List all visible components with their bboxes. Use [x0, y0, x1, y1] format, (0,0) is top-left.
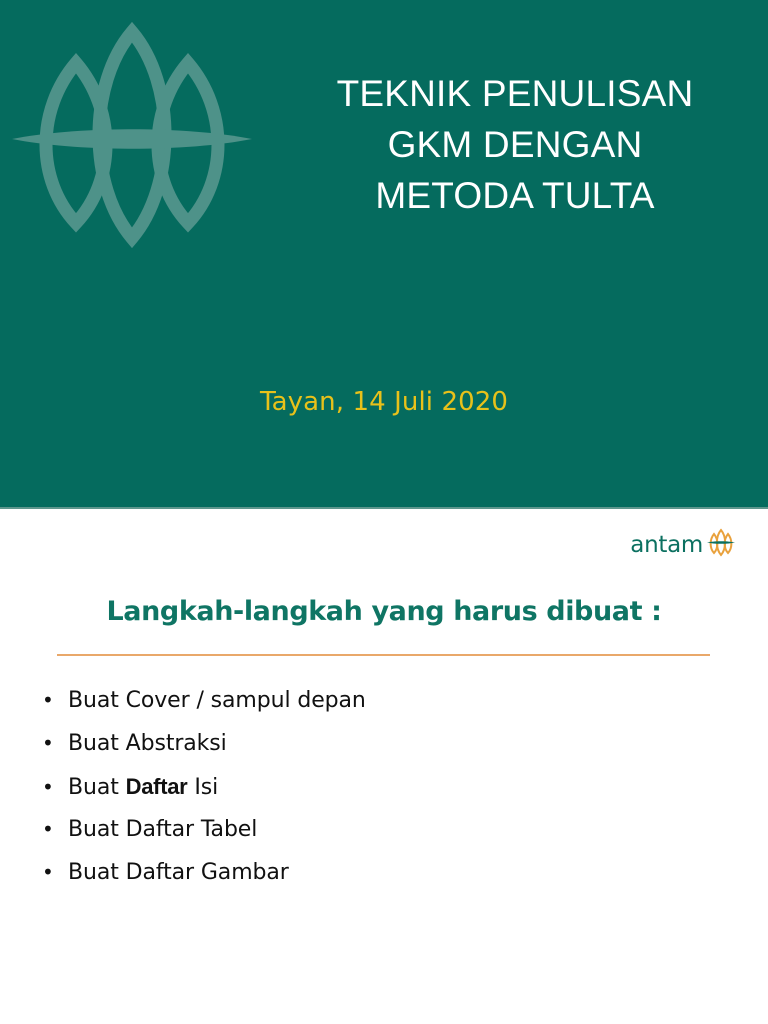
- list-item: • Buat Cover / sampul depan: [42, 679, 742, 722]
- steps-list: • Buat Cover / sampul depan • Buat Abstr…: [42, 679, 742, 894]
- title-slide: TEKNIK PENULISAN GKM DENGAN METODA TULTA…: [0, 0, 768, 509]
- list-item-label: Buat Abstraksi: [68, 722, 227, 765]
- list-item-label: Buat Cover / sampul depan: [68, 679, 366, 722]
- list-item-label: Buat Daftar Isi: [68, 765, 218, 809]
- antam-brand-logo: antam: [630, 527, 736, 557]
- list-item: • Buat Daftar Tabel: [42, 808, 742, 851]
- list-item: • Buat Daftar Gambar: [42, 851, 742, 894]
- content-heading: Langkah-langkah yang harus dibuat :: [0, 594, 768, 630]
- title-date: Tayan, 14 Juli 2020: [0, 385, 768, 419]
- list-item-label: Buat Daftar Gambar: [68, 851, 289, 894]
- content-slide: antam Langkah-langkah yang harus dibuat …: [0, 509, 768, 1024]
- antam-triple-leaf-icon: [706, 527, 736, 557]
- list-item-label: Buat Daftar Tabel: [68, 808, 257, 851]
- bullet-icon: •: [42, 808, 68, 851]
- heading-underline-rule: [57, 654, 710, 656]
- bullet-icon: •: [42, 679, 68, 722]
- title-line-3: METODA TULTA: [300, 170, 730, 221]
- antam-triple-leaf-watermark-icon: [8, 18, 256, 253]
- list-item: • Buat Abstraksi: [42, 722, 742, 765]
- title-line-2: GKM DENGAN: [300, 119, 730, 170]
- antam-wordmark: antam: [630, 533, 703, 557]
- title-line-1: TEKNIK PENULISAN: [300, 68, 730, 119]
- bullet-icon: •: [42, 722, 68, 765]
- bullet-icon: •: [42, 766, 68, 809]
- bullet-icon: •: [42, 851, 68, 894]
- page-title: TEKNIK PENULISAN GKM DENGAN METODA TULTA: [300, 68, 730, 221]
- list-item: • Buat Daftar Isi: [42, 765, 742, 808]
